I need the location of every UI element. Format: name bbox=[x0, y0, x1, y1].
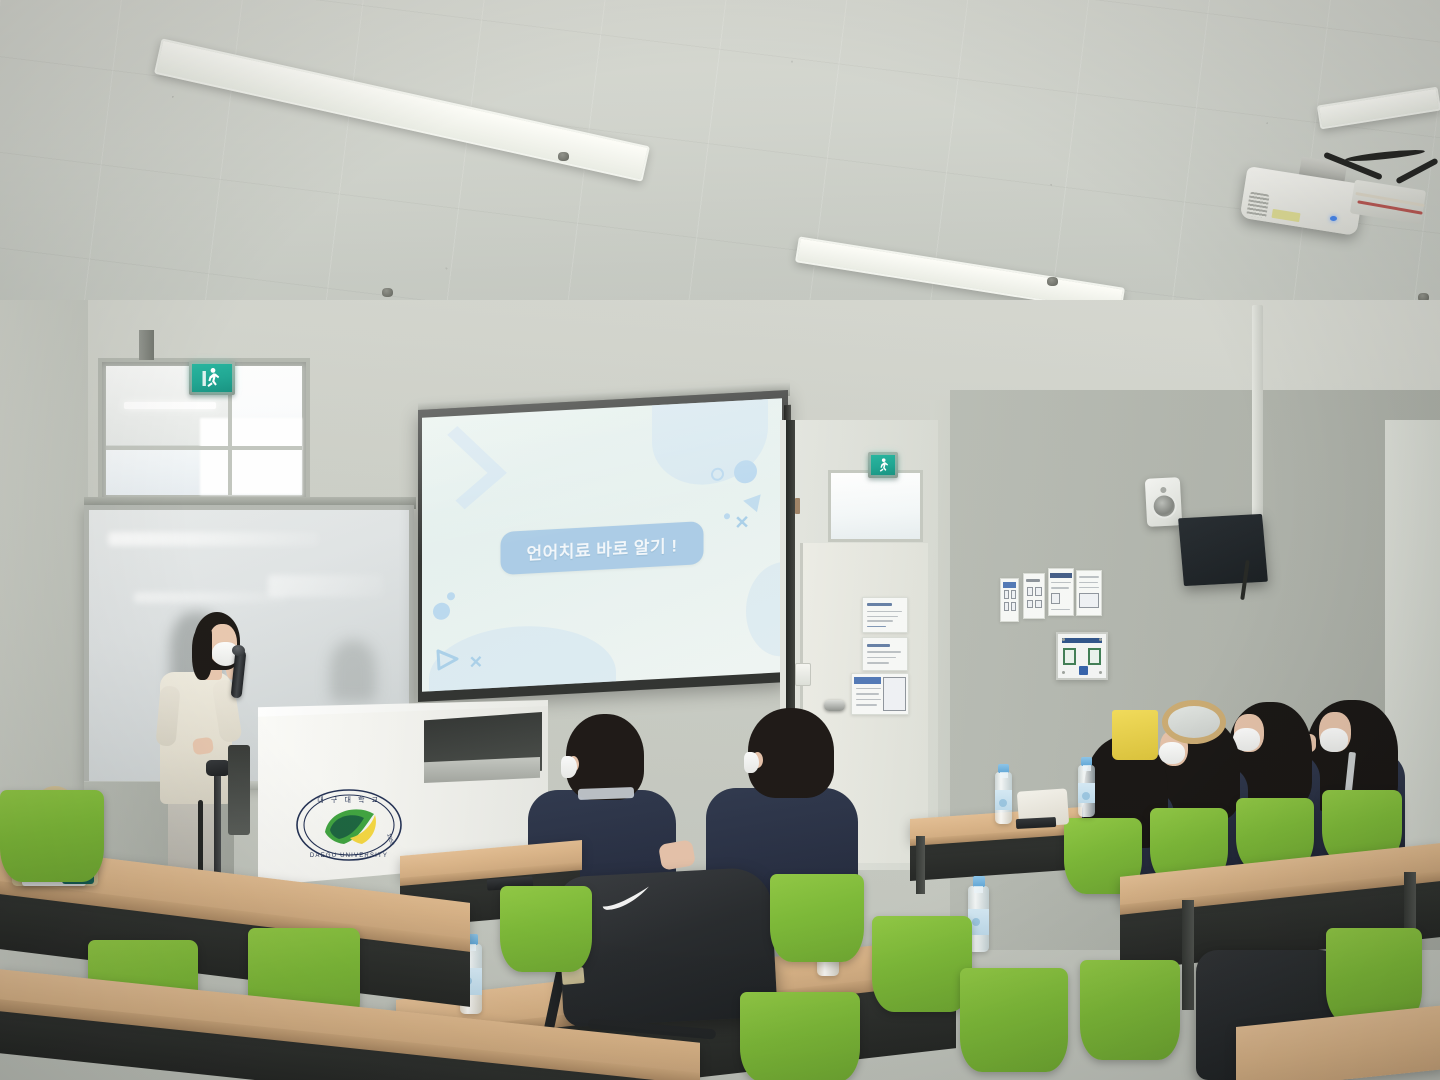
notice-text-line bbox=[867, 626, 886, 628]
emblem-year-text: 1956 bbox=[385, 833, 394, 847]
classroom-chair[interactable] bbox=[0, 790, 104, 882]
slide-dot bbox=[724, 513, 730, 519]
emblem-svg: 대 구 대 학 교 DAEGU UNIVERSITY 1956 bbox=[294, 788, 404, 862]
door-notice bbox=[862, 637, 908, 671]
notice-inner-box bbox=[1004, 590, 1009, 599]
sign-accessibility-icon bbox=[1079, 666, 1088, 675]
slide-x-mark: ✕ bbox=[469, 652, 483, 673]
notice-text-line bbox=[867, 651, 901, 653]
notice-inner-box bbox=[1079, 593, 1099, 608]
microphone-stand-clip bbox=[206, 760, 230, 776]
notice-blue-header bbox=[854, 677, 881, 684]
slide-shape-blob bbox=[746, 561, 782, 658]
corridor-light bbox=[124, 402, 216, 409]
classroom-chair[interactable] bbox=[770, 874, 864, 962]
door-transom-window bbox=[828, 470, 923, 542]
sprinkler-head bbox=[558, 152, 569, 161]
water-bottle[interactable] bbox=[1078, 765, 1095, 817]
notice-text-line bbox=[1051, 609, 1070, 611]
exit-sign bbox=[189, 361, 235, 395]
sign-screw bbox=[1062, 638, 1065, 641]
notice-blue-header bbox=[1050, 573, 1071, 578]
slide-title-text: 언어치료 바로 알기 ! bbox=[527, 536, 678, 563]
whiteboard-glare bbox=[134, 592, 288, 603]
notice-text-line bbox=[867, 611, 902, 613]
notice-inner-box bbox=[1004, 602, 1009, 611]
student-collar bbox=[578, 787, 634, 800]
notice-heading-line bbox=[867, 644, 891, 647]
notice-text-line bbox=[867, 620, 893, 622]
light-switch[interactable] bbox=[795, 663, 811, 686]
running-person-icon bbox=[202, 367, 222, 389]
table-leg bbox=[916, 836, 925, 894]
wall-notice bbox=[1023, 573, 1045, 619]
slide-dot bbox=[734, 460, 757, 484]
speaker-cone bbox=[1153, 495, 1175, 517]
notice-text-line bbox=[1079, 582, 1098, 584]
notice-inner-box bbox=[1035, 600, 1041, 609]
door-hinge bbox=[795, 498, 800, 514]
door-notice bbox=[851, 673, 909, 715]
projection-screen: ✕ ✕ 언어치료 바로 알기 ! bbox=[418, 390, 788, 702]
notice-inner-box bbox=[1035, 587, 1041, 596]
notice-text-line bbox=[856, 704, 876, 706]
slide-triangle bbox=[741, 492, 760, 512]
framed-floor-plan-sign bbox=[1056, 632, 1108, 680]
window-daylight bbox=[200, 418, 302, 495]
wall-speaker bbox=[1145, 477, 1182, 527]
window-bracket bbox=[139, 330, 154, 360]
student-face-mask bbox=[1159, 742, 1185, 764]
notice-text-line bbox=[867, 657, 896, 659]
classroom-chair[interactable] bbox=[740, 992, 860, 1080]
sign-header-bar bbox=[1062, 638, 1102, 643]
student-face-mask bbox=[744, 752, 759, 773]
wall-notice bbox=[1048, 568, 1074, 616]
wall-notice bbox=[1000, 578, 1019, 622]
slide-dot bbox=[433, 602, 450, 620]
presenter-hair-side bbox=[192, 628, 212, 680]
water-bottle[interactable] bbox=[995, 772, 1012, 824]
sign-diagram-box bbox=[1063, 648, 1076, 665]
mobile-phone[interactable] bbox=[1016, 817, 1056, 829]
sign-diagram-box bbox=[1088, 648, 1101, 665]
projector-vent bbox=[1246, 192, 1270, 219]
whiteboard-glare bbox=[108, 532, 319, 546]
sign-screw bbox=[1099, 638, 1102, 641]
daegu-university-emblem: 대 구 대 학 교 DAEGU UNIVERSITY 1956 bbox=[294, 788, 404, 862]
sign-screw bbox=[1062, 671, 1065, 674]
slide-shape-chevron bbox=[422, 426, 506, 509]
notice-text-line bbox=[1079, 587, 1099, 589]
exit-sign-face bbox=[871, 455, 895, 475]
slide-triangle-outline-icon bbox=[435, 647, 461, 672]
microphone-stand bbox=[214, 770, 221, 888]
window-mullion bbox=[106, 446, 302, 450]
notice-text-line bbox=[856, 688, 881, 690]
notice-text-line bbox=[1051, 587, 1069, 589]
speaker-tweeter bbox=[1160, 486, 1166, 492]
classroom-chair[interactable] bbox=[500, 886, 592, 972]
slide-dot bbox=[447, 592, 455, 600]
notice-text-line bbox=[856, 693, 878, 695]
notice-inner-box bbox=[1011, 590, 1016, 599]
exit-sign-face bbox=[192, 364, 232, 392]
bottle-label bbox=[1078, 783, 1095, 803]
student-face-mask bbox=[1320, 728, 1348, 752]
notice-inner-box bbox=[1011, 602, 1016, 611]
notice-text-line bbox=[856, 699, 881, 701]
lecture-room-photo: ✕ ✕ 언어치료 바로 알기 ! bbox=[0, 0, 1440, 1080]
notice-text-line bbox=[1079, 576, 1099, 578]
notice-text-line bbox=[1051, 582, 1071, 584]
classroom-chair[interactable] bbox=[960, 968, 1068, 1072]
projector-power-led bbox=[1330, 216, 1337, 221]
podium-side-slot bbox=[228, 745, 250, 835]
exit-sign bbox=[868, 452, 898, 478]
student-face-mask bbox=[561, 756, 577, 778]
notice-inner-box bbox=[883, 677, 905, 711]
emblem-english-text: DAEGU UNIVERSITY bbox=[310, 853, 388, 859]
sign-screw bbox=[1099, 671, 1102, 674]
notice-text-line bbox=[867, 616, 899, 618]
sprinkler-head bbox=[382, 288, 393, 297]
bottle-neck bbox=[1000, 772, 1008, 778]
bottle-label bbox=[995, 790, 1012, 810]
notice-heading-line bbox=[1026, 579, 1040, 582]
presentation-slide: ✕ ✕ 언어치료 바로 알기 ! bbox=[422, 398, 782, 691]
notice-inner-box bbox=[1027, 587, 1033, 596]
bottle-neck bbox=[1083, 765, 1091, 771]
wall-notice bbox=[1076, 570, 1102, 616]
door-notice bbox=[862, 597, 908, 633]
notice-text-line bbox=[867, 662, 889, 664]
bottle-neck bbox=[974, 886, 983, 893]
whiteboard-glare bbox=[268, 575, 383, 597]
notice-heading-line bbox=[867, 603, 893, 606]
running-person-icon bbox=[876, 457, 890, 474]
table-leg bbox=[1182, 900, 1194, 1010]
slide-title-box: 언어치료 바로 알기 ! bbox=[501, 521, 704, 575]
round-mirror bbox=[1162, 700, 1226, 744]
notice-inner-box bbox=[1051, 593, 1060, 604]
classroom-chair[interactable] bbox=[872, 916, 972, 1012]
notice-inner-box bbox=[1027, 600, 1033, 609]
notice-blue-header bbox=[1003, 582, 1017, 588]
wall-mounted-monitor bbox=[1178, 514, 1268, 586]
classroom-chair[interactable] bbox=[1080, 960, 1180, 1060]
wall-shadow bbox=[330, 640, 376, 702]
sprinkler-head bbox=[1047, 277, 1058, 286]
slide-x-mark: ✕ bbox=[735, 512, 750, 534]
door-handle[interactable] bbox=[824, 700, 845, 711]
emblem-korean-text: 대 구 대 학 교 bbox=[317, 795, 380, 804]
yellow-bag bbox=[1112, 710, 1158, 760]
